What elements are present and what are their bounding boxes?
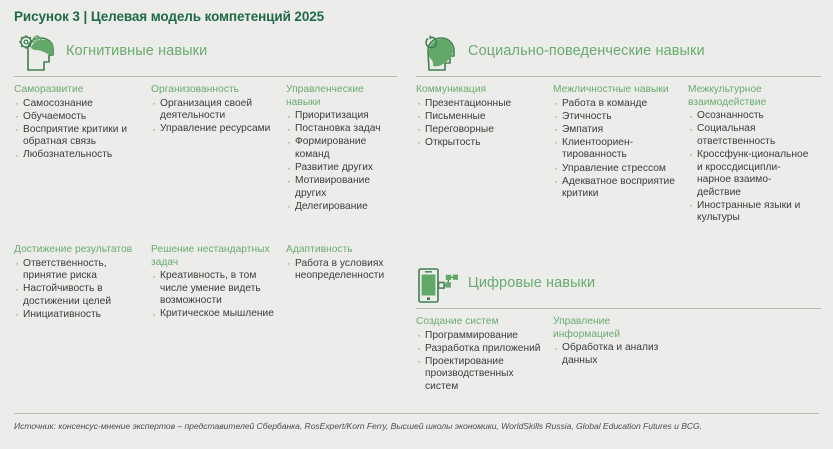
list-item: Обучаемость [14,111,143,124]
group-items: Программирование Разработка приложений П… [416,330,545,394]
page-title: Рисунок 3 | Целевая модель компетенций 2… [14,7,814,27]
list-item: Любознательность [14,149,143,162]
group-items: Приоритизация Постановка задач Формирова… [286,110,389,213]
list-item: Работа в условиях неопределенности [286,258,389,283]
group-title: Создание систем [416,316,545,329]
list-item: Постановка задач [286,123,389,136]
list-item: Критическое мышление [151,308,278,321]
group-kommunikatsiya: Коммуникация Презентационные Письменные … [416,84,553,150]
group-upravlenie-informatsiey: Управление информацией Обработка и анали… [553,316,688,368]
group-items: Работа в команде Этичность Эмпатия Клиен… [553,98,680,201]
list-item: Креативность, в том числе умение видеть … [151,270,278,308]
list-item: Работа в команде [553,98,680,111]
list-item: Приоритизация [286,110,389,123]
group-organizovannost: Организованность Организация своей деяте… [151,84,286,136]
group-reshenie-nestandartnyh-zadach: Решение нестандартных задач Креативность… [151,244,286,322]
list-item: Организация своей деятельности [151,98,278,123]
list-item: Ответственность, принятие риска [14,258,143,283]
list-item: Восприятие критики и обратная связь [14,124,143,149]
group-title: Саморазвитие [14,84,143,97]
section-title-digital: Цифровые навыки [468,275,595,291]
list-item: Этичность [553,111,680,124]
panels-area: Когнитивные навыки Саморазвитие Самосозн… [0,31,833,413]
section-digital: Цифровые навыки Создание систем Программ… [416,263,821,394]
list-item: Развитие других [286,162,389,175]
list-item: Переговорные [416,124,545,137]
social-row-1: Коммуникация Презентационные Письменные … [416,77,821,226]
list-item: Разработка приложений [416,343,545,356]
section-header-social: Социально-поведенческие навыки [416,31,821,76]
section-title-cognitive: Когнитивные навыки [66,43,207,59]
group-adaptivnost: Адаптивность Работа в условиях неопредел… [286,244,397,283]
list-item: Обработка и анализ данных [553,342,680,367]
section-title-social: Социально-поведенческие навыки [468,43,705,59]
group-upravlencheskie-navyki: Управленческие навыки Приоритизация Пост… [286,84,397,214]
group-items: Креативность, в том числе умение видеть … [151,270,278,321]
section-header-digital: Цифровые навыки [416,263,821,308]
group-mezhkulturnoe-vzaimodeystvie: Межкультурное взаимодействие Осознанност… [688,84,821,226]
list-item: Осознанность [688,110,813,123]
figure-container: Рисунок 3 | Целевая модель компетенций 2… [0,0,833,449]
group-items: Самосознание Обучаемость Восприятие крит… [14,98,143,162]
list-item: Управление ресурсами [151,123,278,136]
group-title: Межкультурное взаимодействие [688,84,813,109]
list-item: Клиентоориен-тированность [553,137,680,162]
list-item: Письменные [416,111,545,124]
group-mezhlichnostnye-navyki: Межличностные навыки Работа в команде Эт… [553,84,688,201]
list-item: Управление стрессом [553,163,680,176]
group-items: Презентационные Письменные Переговорные … [416,98,545,150]
list-item: Презентационные [416,98,545,111]
section-social: Социально-поведенческие навыки Коммуника… [416,31,821,226]
smartphone-nodes-icon [416,266,460,306]
group-sozdanie-sistem: Создание систем Программирование Разрабо… [416,316,553,394]
digital-row-1: Создание систем Программирование Разрабо… [416,309,821,394]
list-item: Социальная ответственность [688,123,813,148]
section-cognitive: Когнитивные навыки Саморазвитие Самосозн… [14,31,397,214]
group-dostizhenie-rezultatov: Достижение результатов Ответственность, … [14,244,151,322]
figure-title-bar: Рисунок 3 | Целевая модель компетенций 2… [14,7,814,29]
figure-footer: Источник: консенсус-мнение экспертов – п… [0,413,833,449]
source-note: Источник: консенсус-мнение экспертов – п… [14,421,702,431]
cognitive-row-1: Саморазвитие Самосознание Обучаемость Во… [14,77,397,214]
group-title: Управление информацией [553,316,680,341]
group-items: Ответственность, принятие риска Настойчи… [14,258,143,322]
group-title: Межличностные навыки [553,84,680,97]
group-title: Адаптивность [286,244,389,257]
head-refresh-icon [416,34,460,74]
cognitive-row-2: Достижение результатов Ответственность, … [14,244,397,322]
footer-divider [14,413,819,414]
list-item: Иностранные языки и культуры [688,200,813,225]
list-item: Самосознание [14,98,143,111]
list-item: Эмпатия [553,124,680,137]
list-item: Формирование команд [286,136,389,161]
list-item: Делегирование [286,201,389,214]
section-header-cognitive: Когнитивные навыки [14,31,397,76]
group-title: Коммуникация [416,84,545,97]
group-title: Управленческие навыки [286,84,389,109]
group-title: Организованность [151,84,278,97]
head-gears-icon [14,34,58,74]
list-item: Программирование [416,330,545,343]
group-items: Осознанность Социальная ответственность … [688,110,813,225]
list-item: Проектирование производственных систем [416,356,545,394]
list-item: Мотивирование других [286,175,389,200]
list-item: Настойчивость в достижении целей [14,283,143,308]
list-item: Открытость [416,137,545,150]
group-items: Обработка и анализ данных [553,342,680,367]
group-title: Достижение результатов [14,244,143,257]
group-items: Работа в условиях неопределенности [286,258,389,283]
group-title: Решение нестандартных задач [151,244,278,269]
group-items: Организация своей деятельности Управлени… [151,98,278,136]
group-samorazvitie: Саморазвитие Самосознание Обучаемость Во… [14,84,151,163]
list-item: Инициативность [14,309,143,322]
list-item: Кроссфунк-циональное и кроссдисципли-нар… [688,149,813,199]
list-item: Адекватное восприятие критики [553,176,680,201]
